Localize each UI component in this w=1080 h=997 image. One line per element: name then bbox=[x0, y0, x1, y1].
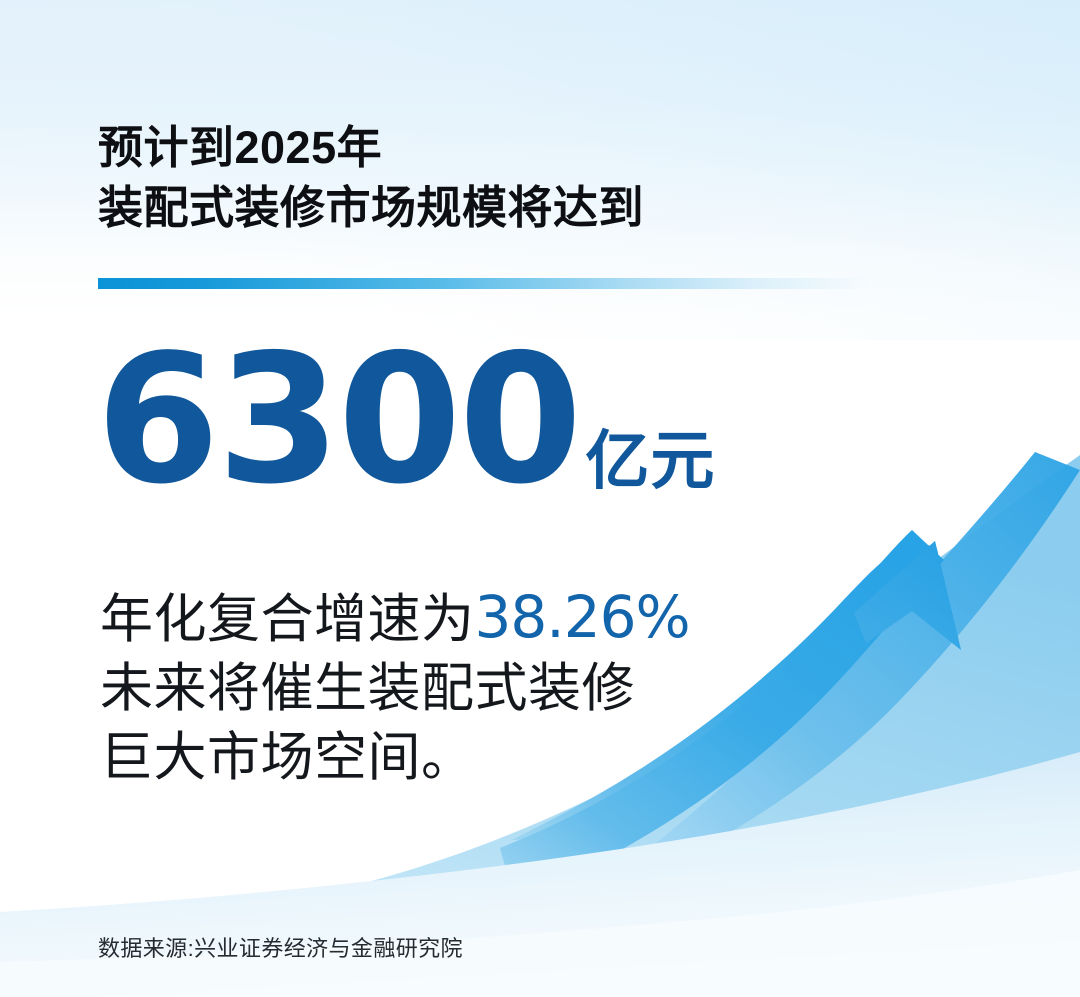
subcopy-line-1: 年化复合增速为38.26% bbox=[100, 580, 820, 655]
statistic-unit: 亿元 bbox=[585, 429, 715, 499]
page-title: 预计到2025年 装配式装修市场规模将达到 bbox=[98, 118, 958, 239]
subcopy-block: 年化复合增速为38.26% 未来将催生装配式装修 巨大市场空间。 bbox=[100, 580, 820, 793]
cagr-highlight: 38.26% bbox=[475, 583, 690, 651]
statistic-value: 6300 bbox=[96, 342, 579, 499]
subcopy-line-3: 巨大市场空间。 bbox=[100, 724, 820, 793]
subcopy-line-2: 未来将催生装配式装修 bbox=[100, 655, 820, 724]
statistic-block: 6300 亿元 bbox=[96, 342, 715, 499]
gradient-divider-bar bbox=[98, 278, 873, 289]
infographic-poster: 预计到2025年 装配式装修市场规模将达到 6300 亿元 年化复合增速为38.… bbox=[0, 0, 1080, 997]
subcopy-line-1-prefix: 年化复合增速为 bbox=[100, 590, 475, 649]
data-source-note: 数据来源:兴业证券经济与金融研究院 bbox=[98, 931, 463, 963]
